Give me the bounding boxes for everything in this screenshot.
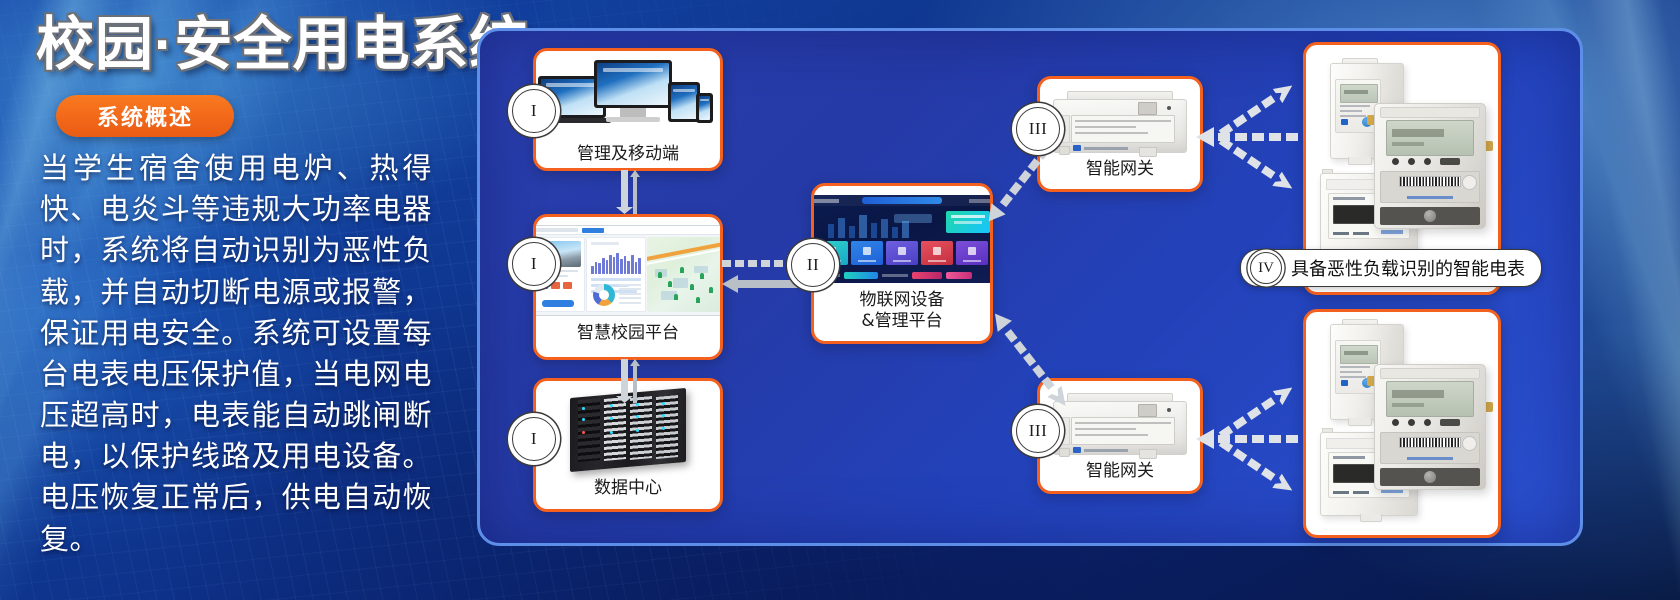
node-caption: 智能网关 [1086, 461, 1154, 482]
overview-paragraph: 当学生宿舍使用电炉、热得快、电炎斗等违规大功率电器时，系统将自动识别为恶性负载，… [40, 148, 432, 560]
node-meters-bottom[interactable] [1303, 309, 1501, 538]
node-caption: 智慧校园平台 [577, 323, 679, 344]
iot-dashboard-screenshot-icon [811, 195, 993, 283]
arrow-campus-to-datacenter [611, 359, 645, 408]
node-caption-line1: 物联网设备 [860, 290, 945, 311]
campus-platform-screenshot-icon [533, 225, 723, 316]
poster-canvas: 校园·安全用电系统 系统概述 当学生宿舍使用电炉、热得快、电炎斗等违规大功率电器… [0, 0, 1680, 600]
numeral-badge-gateway-top: III [1016, 107, 1060, 151]
node-admin-mobile[interactable]: 管理及移动端 [533, 48, 723, 171]
numeral-badge-smart-campus: I [512, 242, 556, 286]
numeral-badge-admin-mobile: I [512, 89, 556, 133]
meter-group-bottom [1306, 312, 1498, 535]
section-badge: 系统概述 [56, 95, 234, 137]
numeral-badge-data-center: I [512, 417, 556, 461]
three-phase-meter-icon [1374, 364, 1486, 490]
numeral-badge-gateway-bottom: III [1016, 409, 1060, 453]
arrow-admin-to-campus [611, 170, 645, 219]
node-caption: 数据中心 [594, 478, 662, 499]
three-phase-meter-icon [1374, 103, 1486, 229]
meters-pill-label: IV 具备恶性负载识别的智能电表 [1240, 249, 1542, 287]
numeral-badge-iot-platform: II [791, 243, 835, 287]
intro-panel: 校园·安全用电系统 系统概述 当学生宿舍使用电炉、热得快、电炎斗等违规大功率电器… [0, 0, 470, 600]
section-badge-label: 系统概述 [97, 100, 193, 132]
meters-pill-text: 具备恶性负载识别的智能电表 [1291, 255, 1525, 281]
arrow-gateway-top-to-meters [1196, 69, 1308, 224]
devices-icon [538, 60, 718, 138]
node-caption: 管理及移动端 [577, 144, 679, 165]
node-iot-platform[interactable]: 物联网设备 &管理平台 [811, 183, 993, 344]
numeral-badge-meters: IV [1250, 252, 1282, 284]
node-caption: 智能网关 [1086, 159, 1154, 180]
node-smart-campus[interactable]: 智慧校园平台 [533, 214, 723, 360]
page-title: 校园·安全用电系统 [36, 16, 466, 74]
node-caption-line2: &管理平台 [861, 311, 942, 332]
arrow-gateway-bottom-to-meters [1196, 371, 1308, 526]
system-architecture-diagram: 管理及移动端 I [477, 28, 1583, 546]
